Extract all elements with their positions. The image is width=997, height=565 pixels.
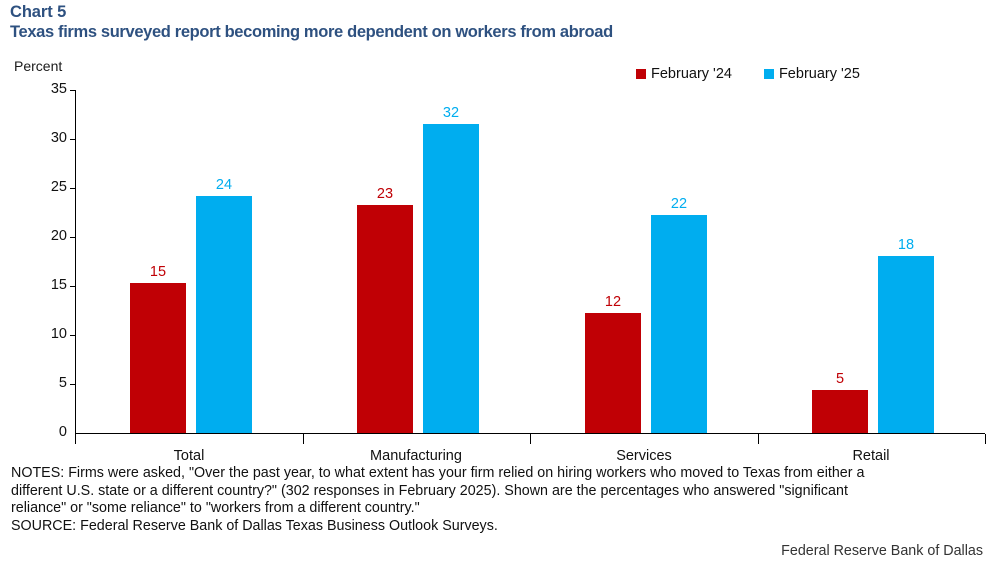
- y-axis-unit-label: Percent: [14, 58, 62, 74]
- chart-legend: February '24February '25: [636, 66, 860, 82]
- y-axis-tick-mark: [70, 90, 75, 91]
- legend-item-label: February '24: [651, 66, 732, 82]
- x-axis-separator-tick: [75, 434, 76, 444]
- y-axis-tick-mark: [70, 286, 75, 287]
- bar[interactable]: 18: [878, 256, 934, 433]
- source-attribution: Federal Reserve Bank of Dallas: [781, 543, 983, 559]
- y-axis-tick-mark: [70, 335, 75, 336]
- x-axis-category-label: Manufacturing: [370, 448, 462, 464]
- chart-title: Texas firms surveyed report becoming mor…: [10, 22, 970, 43]
- bar[interactable]: 22: [651, 215, 707, 434]
- notes-line: reliance" or "some reliance" to "workers…: [11, 500, 983, 518]
- y-axis-tick-label: 25: [51, 179, 67, 195]
- notes-line: different U.S. state or a different coun…: [11, 483, 983, 501]
- x-axis-category-label: Total: [174, 448, 205, 464]
- bar[interactable]: 5: [812, 390, 868, 433]
- y-axis-line: [75, 90, 76, 434]
- y-axis-tick-mark: [70, 237, 75, 238]
- bar[interactable]: 23: [357, 205, 413, 433]
- legend-swatch-icon: [764, 69, 774, 79]
- chart-header: Chart 5 Texas firms surveyed report beco…: [10, 3, 970, 43]
- bar-value-label: 32: [443, 105, 459, 121]
- x-axis-separator-tick: [303, 434, 304, 444]
- y-axis-tick-mark: [70, 188, 75, 189]
- y-axis-tick-label: 15: [51, 277, 67, 293]
- legend-item[interactable]: February '24: [636, 66, 732, 82]
- bar[interactable]: 15: [130, 283, 186, 433]
- plot-area: 05101520253035 152423321222518 TotalManu…: [75, 90, 985, 433]
- bar-value-label: 18: [898, 237, 914, 253]
- y-axis-tick-label: 30: [51, 130, 67, 146]
- y-axis-tick-mark: [70, 139, 75, 140]
- bar-value-label: 22: [671, 196, 687, 212]
- bar[interactable]: 12: [585, 313, 641, 434]
- y-axis-tick-label: 20: [51, 228, 67, 244]
- x-axis-category-label: Retail: [852, 448, 889, 464]
- legend-item-label: February '25: [779, 66, 860, 82]
- x-axis-separator-tick: [985, 434, 986, 444]
- bar-value-label: 15: [150, 264, 166, 280]
- bar-value-label: 5: [836, 371, 844, 387]
- y-axis-tick-mark: [70, 384, 75, 385]
- y-axis-tick-label: 0: [59, 424, 67, 440]
- bar[interactable]: 24: [196, 196, 252, 433]
- x-axis-separator-tick: [758, 434, 759, 444]
- bar-value-label: 24: [216, 177, 232, 193]
- notes-line: SOURCE: Federal Reserve Bank of Dallas T…: [11, 518, 983, 536]
- x-axis-category-label: Services: [616, 448, 672, 464]
- bar-value-label: 12: [605, 294, 621, 310]
- y-axis-tick-label: 35: [51, 81, 67, 97]
- y-axis-tick-label: 10: [51, 326, 67, 342]
- legend-swatch-icon: [636, 69, 646, 79]
- bar-value-label: 23: [377, 186, 393, 202]
- y-axis-tick-label: 5: [59, 375, 67, 391]
- chart-number: Chart 5: [10, 3, 970, 22]
- bar[interactable]: 32: [423, 124, 479, 433]
- chart-notes: NOTES: Firms were asked, "Over the past …: [11, 465, 983, 535]
- notes-line: NOTES: Firms were asked, "Over the past …: [11, 465, 983, 483]
- x-axis-separator-tick: [530, 434, 531, 444]
- legend-item[interactable]: February '25: [764, 66, 860, 82]
